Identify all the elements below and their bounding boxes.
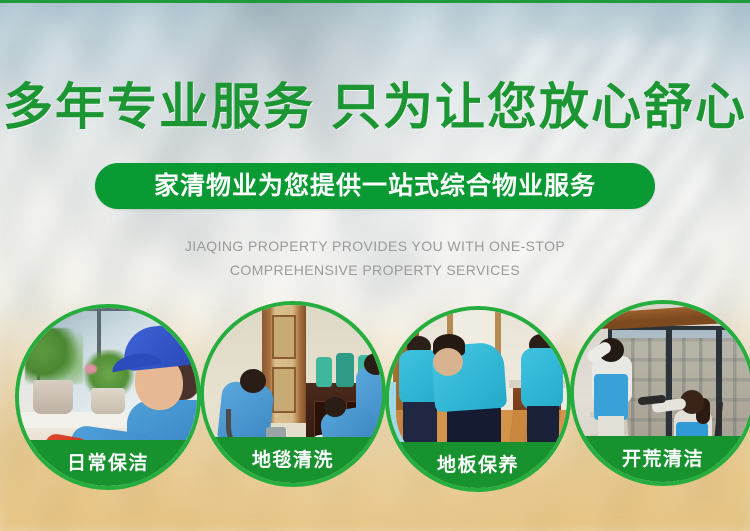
service-circle-carpet-washing[interactable]: 地毯清洗 — [200, 301, 386, 487]
service-label: 地毯清洗 — [252, 451, 334, 470]
page-title: 多年专业服务 只为让您放心舒心 — [0, 78, 750, 136]
promo-banner: 多年专业服务 只为让您放心舒心 家清物业为您提供一站式综合物业服务 JIAQIN… — [0, 0, 750, 531]
tagline-text: 家清物业为您提供一站式综合物业服务 — [154, 174, 596, 199]
service-label-band: 日常保洁 — [15, 440, 201, 490]
service-label: 日常保洁 — [67, 454, 149, 473]
service-label: 开荒清洁 — [622, 450, 704, 469]
service-label: 地板保养 — [437, 456, 519, 475]
service-circle-floor-maintenance[interactable]: 地板保养 — [385, 306, 571, 492]
subtitle-line-1: JIAQING PROPERTY PROVIDES YOU WITH ONE-S… — [0, 234, 750, 258]
service-label-band: 地板保养 — [385, 442, 571, 492]
service-label-band: 开荒清洁 — [570, 436, 750, 486]
subtitle-line-2: COMPREHENSIVE PROPERTY SERVICES — [0, 258, 750, 282]
service-label-band: 地毯清洗 — [200, 437, 386, 487]
tagline-pill: 家清物业为您提供一站式综合物业服务 — [95, 163, 655, 209]
subtitle: JIAQING PROPERTY PROVIDES YOU WITH ONE-S… — [0, 234, 750, 282]
service-circle-post-construction-cleaning[interactable]: 开荒清洁 — [570, 300, 750, 486]
top-divider — [0, 0, 750, 3]
service-circle-daily-cleaning[interactable]: 日常保洁 — [15, 304, 201, 490]
